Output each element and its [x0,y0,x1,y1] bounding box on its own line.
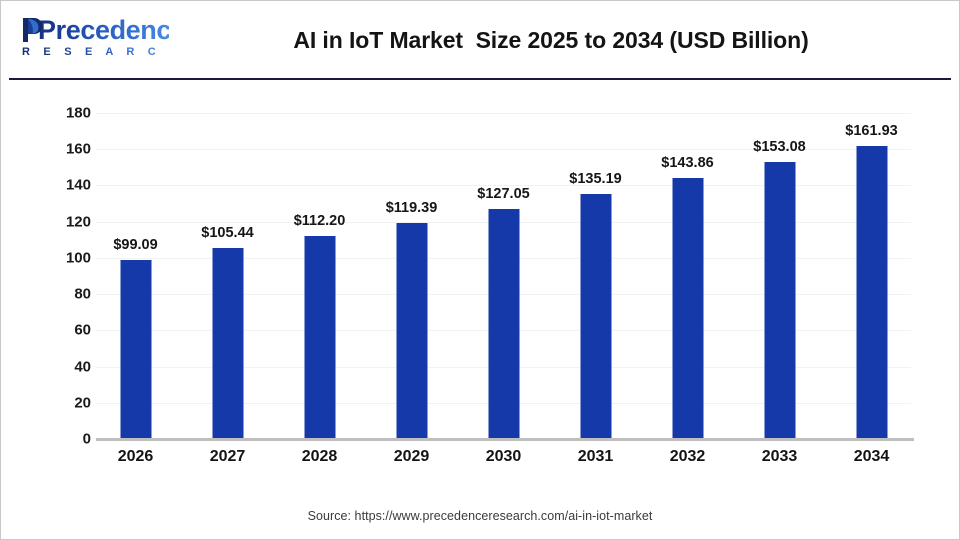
bar-slot: $112.20 [274,113,366,439]
chart-plot-area: 180160140120100806040200 $99.09$105.44$1… [1,80,959,539]
x-axis-tick-label: 2031 [550,448,642,466]
bar-2033[interactable] [764,162,795,439]
bar-value-label: $99.09 [113,237,157,253]
chart-page: Precedence R E S E A R C H AI in IoT Mar… [0,0,960,540]
y-axis-tick-label: 160 [45,141,91,158]
y-axis-tick-label: 0 [45,431,91,448]
x-axis-tick-label: 2029 [366,448,458,466]
bar-value-label: $105.44 [201,225,253,241]
bar-2027[interactable] [212,248,243,439]
bar-value-label: $135.19 [569,171,621,187]
y-axis-tick-label: 20 [45,394,91,411]
precedence-research-logo: Precedence R E S E A R C H [19,15,169,63]
bar-slot: $143.86 [642,113,734,439]
source-caption: Source: https://www.precedenceresearch.c… [1,509,959,523]
bar-2028[interactable] [304,236,335,439]
bar-value-label: $161.93 [845,123,897,139]
x-axis-tick-label: 2027 [182,448,274,466]
bar-slot: $119.39 [366,113,458,439]
precedence-leaf-mark-icon [21,17,43,43]
bar-2030[interactable] [488,209,519,439]
plot-canvas: $99.09$105.44$112.20$119.39$127.05$135.1… [96,113,911,439]
bar-2032[interactable] [672,178,703,439]
x-axis-tick-label: 2026 [90,448,182,466]
y-axis-tick-label: 80 [45,286,91,303]
y-axis-tick-label: 140 [45,177,91,194]
bar-2034[interactable] [856,146,887,439]
y-axis-tick-label: 60 [45,322,91,339]
x-axis-tick-label: 2032 [642,448,734,466]
bar-slot: $153.08 [734,113,826,439]
bar-slot: $127.05 [458,113,550,439]
y-axis-tick-label: 100 [45,249,91,266]
bar-2026[interactable] [120,260,151,439]
y-axis: 180160140120100806040200 [36,113,91,439]
bar-slot: $135.19 [550,113,642,439]
bar-slot: $105.44 [182,113,274,439]
bar-slot: $99.09 [90,113,182,439]
y-axis-tick-label: 40 [45,358,91,375]
logo-subtext: R E S E A R C H [19,46,169,58]
x-axis-tick-label: 2028 [274,448,366,466]
x-axis-tick-label: 2033 [734,448,826,466]
bar-value-label: $119.39 [386,200,438,216]
bar-value-label: $153.08 [753,139,805,155]
bar-2029[interactable] [396,223,427,439]
x-axis-tick-label: 2030 [458,448,550,466]
chart-title: AI in IoT Market Size 2025 to 2034 (USD … [231,27,871,54]
x-axis-tick-label: 2034 [826,448,918,466]
y-axis-tick-label: 120 [45,213,91,230]
logo-wordmark: Precedence [19,15,169,45]
bar-2031[interactable] [580,194,611,439]
x-axis-baseline [96,438,914,441]
bar-slot: $161.93 [826,113,918,439]
chart-header: Precedence R E S E A R C H AI in IoT Mar… [1,1,959,78]
bar-value-label: $127.05 [477,186,529,202]
y-axis-tick-label: 180 [45,105,91,122]
bar-value-label: $143.86 [661,155,713,171]
bar-value-label: $112.20 [294,213,346,229]
logo-wordmark-text: Precedence [38,15,186,45]
